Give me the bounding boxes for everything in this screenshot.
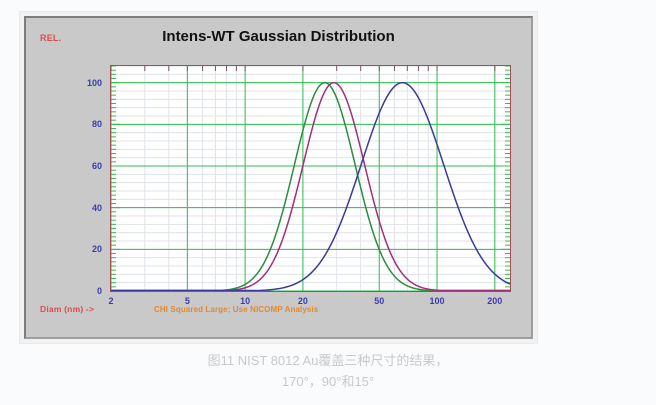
caption-line-2: 170°，90°和15° (0, 371, 656, 392)
figure-caption: 图11 NIST 8012 Au覆盖三种尺寸的结果， 170°，90°和15° (0, 350, 656, 392)
y-tick-label: 0 (68, 286, 102, 296)
caption-line-1: 图11 NIST 8012 Au覆盖三种尺寸的结果， (0, 350, 656, 371)
panel-surface: REL. Intens-WT Gaussian Distribution 020… (26, 18, 531, 337)
distribution-curves (111, 83, 510, 291)
figure-container: REL. Intens-WT Gaussian Distribution 020… (0, 0, 656, 405)
x-tick-label: 50 (374, 296, 384, 306)
y-tick-label: 20 (68, 244, 102, 254)
panel-bevel-frame: REL. Intens-WT Gaussian Distribution 020… (24, 16, 533, 339)
plot-area (110, 65, 511, 292)
x-tick-label: 100 (430, 296, 445, 306)
chi-squared-note: CHI Squared Large; Use NICOMP Analysis (154, 305, 318, 314)
distribution-plot (111, 66, 510, 291)
minor-gridlines (111, 66, 510, 291)
x-tick-label: 200 (487, 296, 502, 306)
y-tick-label: 100 (68, 78, 102, 88)
instrument-panel: REL. Intens-WT Gaussian Distribution 020… (19, 11, 538, 344)
y-tick-label: 80 (68, 119, 102, 129)
y-tick-label: 60 (68, 161, 102, 171)
x-tick-label: 2 (108, 296, 113, 306)
y-tick-label: 40 (68, 203, 102, 213)
x-axis-title: Diam (nm) -> (40, 304, 94, 314)
chart-title: Intens-WT Gaussian Distribution (26, 28, 531, 45)
